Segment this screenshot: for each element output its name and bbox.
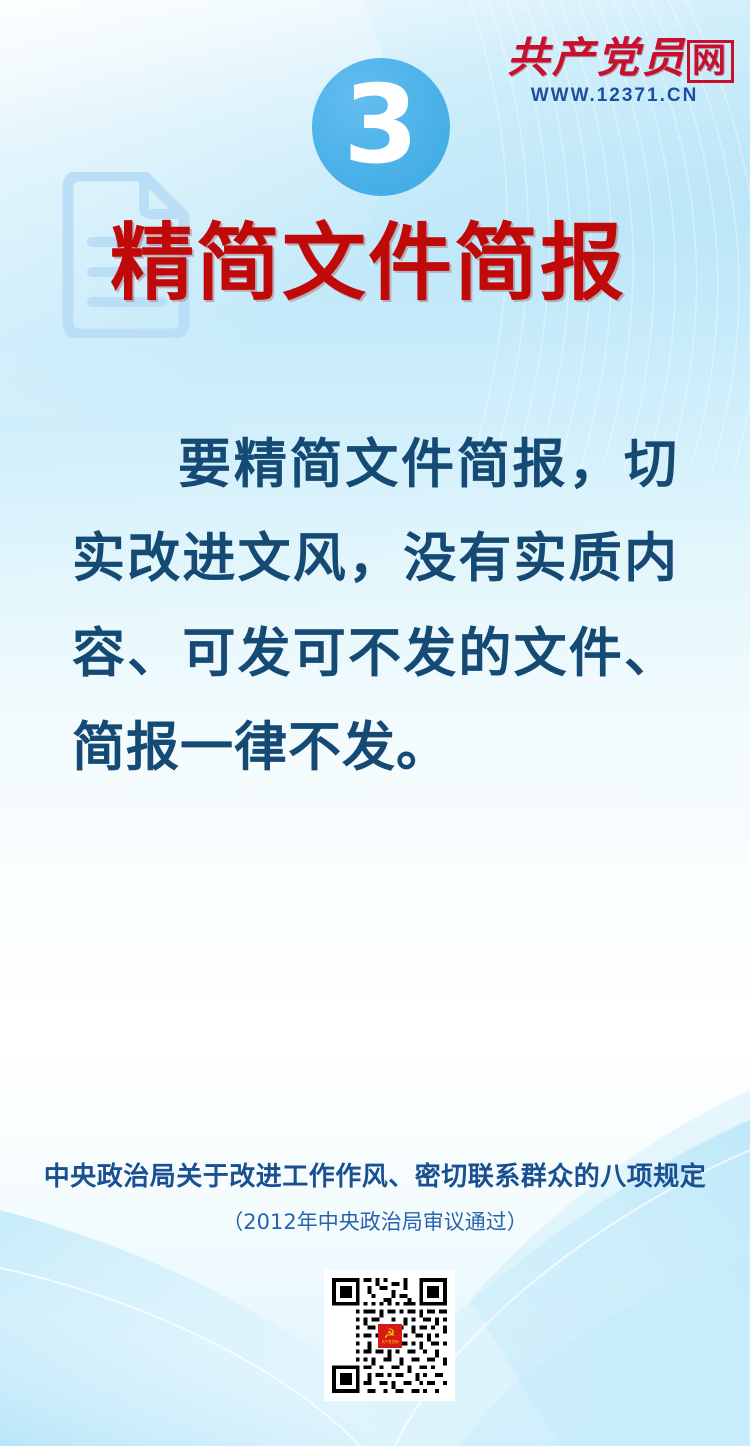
quote-text: 要精简文件简报，切实改进文风，没有实质内容、可发可不发的文件、简报一律不发。 xyxy=(72,418,678,795)
regulation-subtitle: （2012年中央政治局审议通过） xyxy=(0,1206,750,1236)
logo-brand-text: 共产党员 xyxy=(507,36,687,82)
regulation-title: 中央政治局关于改进工作作风、密切联系群众的八项规定 xyxy=(0,1156,750,1193)
logo-brand-boxed-char: 网 xyxy=(687,40,734,83)
site-logo[interactable]: 共产党员网 WWW.12371.CN xyxy=(507,38,722,105)
number-badge: 3 xyxy=(312,58,450,196)
hammer-sickle-glyph: ☭ xyxy=(384,1327,396,1340)
qr-code[interactable]: ☭ 共产党员网 xyxy=(324,1270,455,1401)
poster-root: 共产党员网 WWW.12371.CN 3 精简文件简报 要精简文件简报，切实改进… xyxy=(0,0,750,1446)
logo-wordmark: 共产党员网 xyxy=(507,38,722,80)
page-title: 精简文件简报 xyxy=(110,196,626,317)
logo-url: WWW.12371.CN xyxy=(507,86,722,105)
party-emblem-icon: ☭ 共产党员网 xyxy=(378,1324,402,1348)
emblem-caption: 共产党员网 xyxy=(381,1340,398,1343)
